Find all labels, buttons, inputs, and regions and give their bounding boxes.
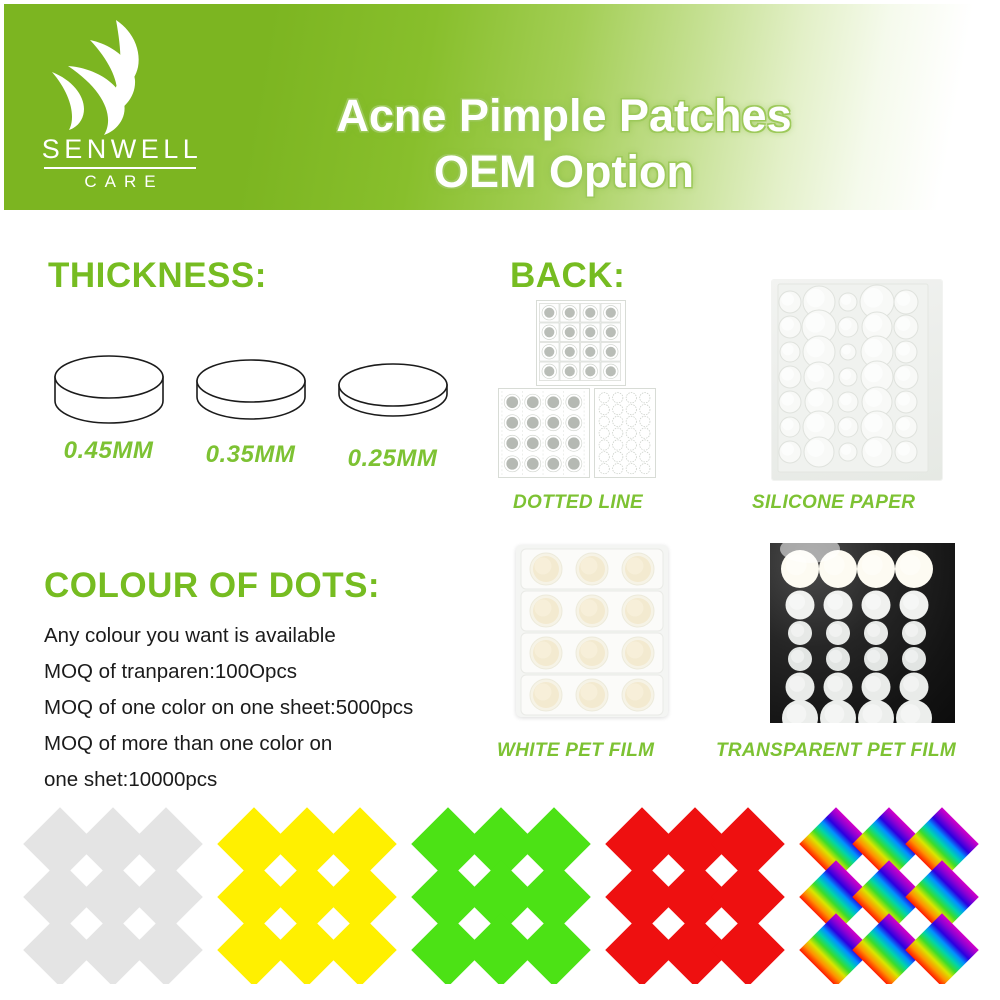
back-heading: BACK:	[510, 256, 625, 296]
swatch-diamond	[129, 913, 203, 987]
colour-line: MOQ of one color on one sheet:5000pcs	[44, 690, 484, 726]
thickness-label: 0.35MM	[188, 441, 313, 469]
page-title-line2: OEM Option	[214, 144, 914, 200]
thickness-item-045: 0.45MM	[46, 355, 171, 465]
dotted-line-sheet-image	[498, 300, 688, 485]
swatch-diamond	[517, 913, 591, 987]
colour-line: MOQ of tranparen:100Opcs	[44, 654, 484, 690]
swatch-diamond	[711, 913, 785, 987]
brand-logo: SENWELL CARE	[30, 18, 212, 198]
disc-thin-icon	[330, 363, 455, 441]
thickness-label: 0.45MM	[46, 437, 171, 465]
logo-tagline: CARE	[30, 173, 210, 190]
thickness-disc-row: 0.45MM 0.35MM 0.25MM	[40, 355, 470, 485]
colour-swatch-transparent-white[interactable]	[34, 818, 194, 978]
colour-description-list: Any colour you want is available MOQ of …	[44, 618, 484, 798]
logo-name: SENWELL	[30, 136, 210, 163]
dotted-line-label: DOTTED LINE	[513, 492, 643, 514]
page-title-line1: Acne Pimple Patches	[214, 88, 914, 144]
silicone-paper-sheet-image	[772, 280, 942, 480]
logo-wordmark: SENWELL CARE	[30, 136, 210, 190]
page-title: Acne Pimple Patches OEM Option	[214, 88, 914, 201]
colour-line: MOQ of more than one color on	[44, 726, 484, 762]
thickness-heading: THICKNESS:	[48, 256, 267, 296]
white-pet-film-image	[516, 545, 668, 717]
thickness-label: 0.25MM	[330, 445, 455, 473]
transparent-pet-film-label: TRANSPARENT PET FILM	[716, 740, 956, 762]
colour-swatch-yellow[interactable]	[228, 818, 388, 978]
colour-of-dots-heading: COLOUR OF DOTS:	[44, 566, 380, 606]
colour-swatch-rainbow[interactable]	[810, 818, 970, 978]
logo-divider	[44, 167, 196, 169]
colour-line: one shet:10000pcs	[44, 762, 484, 798]
header-banner: SENWELL CARE Acne Pimple Patches OEM Opt…	[4, 4, 1000, 210]
sheet-outline-grid	[594, 388, 656, 478]
thickness-item-025: 0.25MM	[330, 363, 455, 473]
swatch-diamond	[323, 913, 397, 987]
colour-swatch-row	[34, 818, 986, 978]
thickness-item-035: 0.35MM	[188, 359, 313, 469]
colour-swatch-red[interactable]	[616, 818, 776, 978]
feather-leaf-logo-icon	[38, 18, 168, 140]
transparent-pet-film-image	[770, 543, 955, 723]
colour-swatch-green[interactable]	[422, 818, 582, 978]
swatch-diamond	[905, 913, 979, 987]
white-pet-film-label: WHITE PET FILM	[497, 740, 654, 762]
colour-line: Any colour you want is available	[44, 618, 484, 654]
disc-thick-icon	[46, 355, 171, 433]
sheet-squares-grid	[536, 300, 626, 386]
disc-medium-icon	[188, 359, 313, 437]
silicone-paper-label: SILICONE PAPER	[752, 492, 915, 514]
footer-strip	[0, 984, 1000, 1000]
sheet-dots-grid	[498, 388, 590, 478]
